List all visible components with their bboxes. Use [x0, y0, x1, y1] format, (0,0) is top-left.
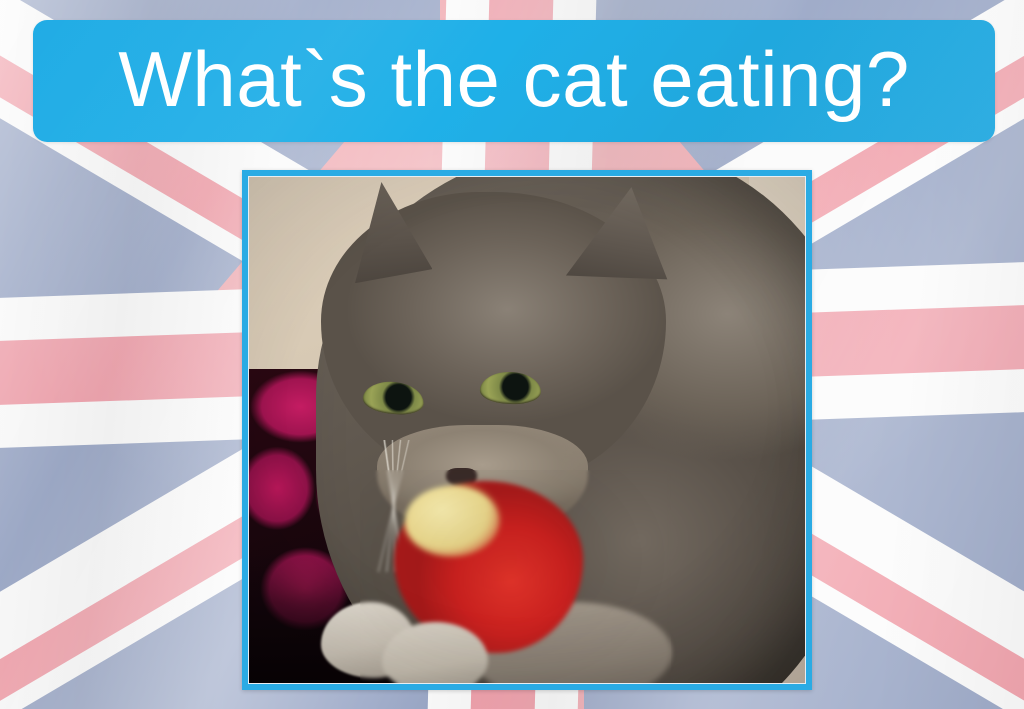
- photo-frame: [242, 170, 812, 690]
- page-title: What`s the cat eating?: [118, 40, 909, 118]
- slide-canvas: What`s the cat eating?: [0, 0, 1024, 709]
- apple-flesh: [405, 486, 500, 557]
- title-banner: What`s the cat eating?: [33, 20, 995, 142]
- cat-photo: [248, 176, 806, 684]
